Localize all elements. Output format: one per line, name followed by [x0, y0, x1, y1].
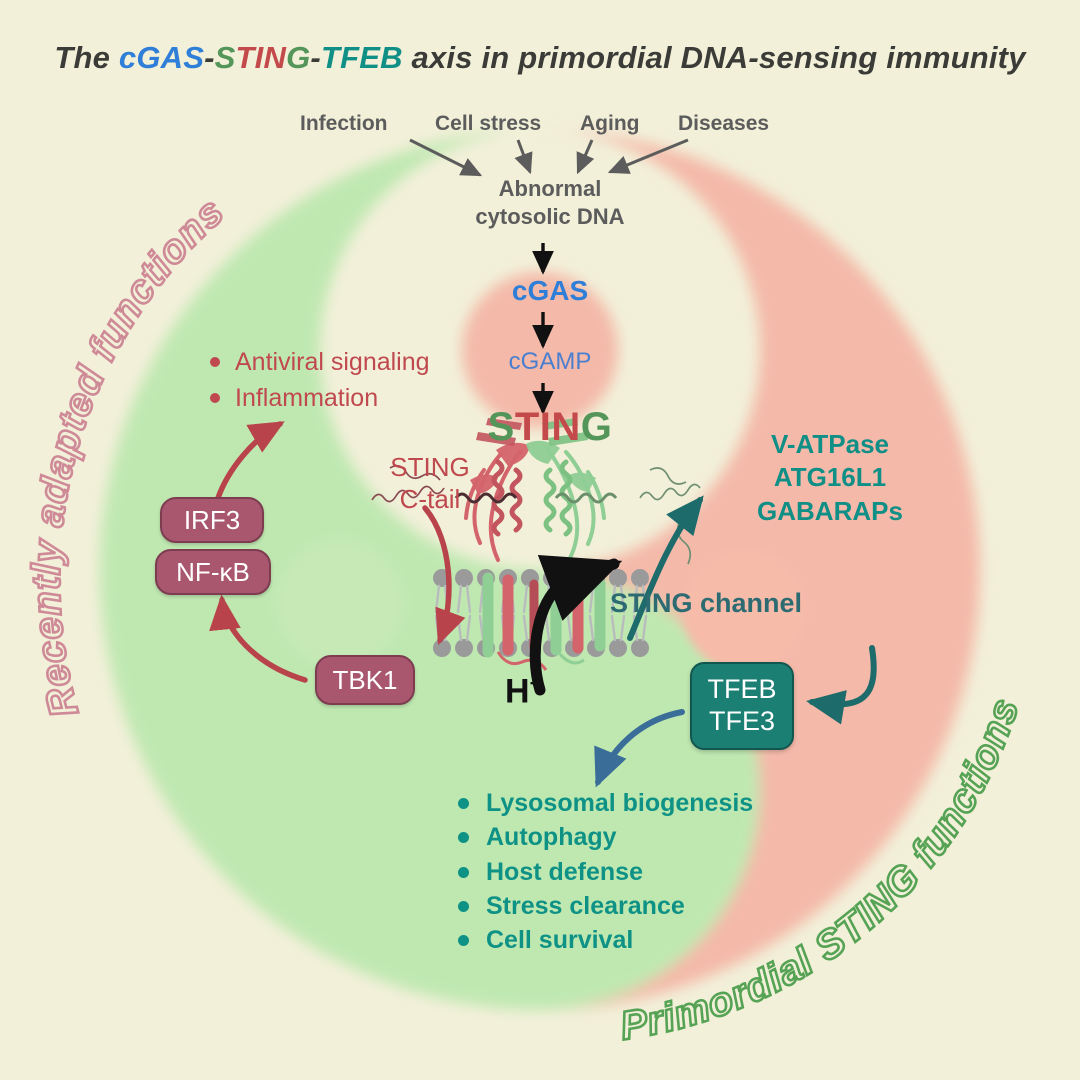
sting-heading-g: G [581, 405, 613, 449]
green-outcomes-list: Lysosomal biogenesis Autophagy Host defe… [450, 786, 870, 957]
page-title: The cGAS-STING-TFEB axis in primordial D… [0, 40, 1080, 76]
tfe3-label: TFE3 [709, 706, 775, 738]
effector-v-atpase: V-ATPase [680, 428, 980, 461]
irf3-node[interactable]: IRF3 [160, 497, 264, 543]
list-item: Stress clearance [450, 889, 870, 923]
title-part-2: - [204, 40, 215, 75]
abnormal-dna-label: Abnormal cytosolic DNA [400, 175, 700, 230]
title-part-0: The [54, 40, 119, 75]
title-part-5: G [286, 40, 310, 75]
title-part-6: - [310, 40, 321, 75]
abnormal-dna-line2: cytosolic DNA [400, 203, 700, 231]
stimulus-label-diseases: Diseases [678, 112, 769, 136]
tfeb-tfe3-node[interactable]: TFEB TFE3 [690, 662, 794, 750]
proton-charge: + [530, 672, 542, 695]
title-part-4: TIN [236, 40, 287, 75]
sting-channel-label: STING channel [610, 588, 802, 619]
stimulus-label-cell-stress: Cell stress [435, 112, 541, 136]
stimulus-label-infection: Infection [300, 112, 388, 136]
list-item: Cell survival [450, 923, 870, 957]
list-item: Autophagy [450, 820, 870, 854]
title-part-1: cGAS [119, 40, 204, 75]
ctail-line1: STING [340, 452, 520, 484]
stimulus-label-aging: Aging [580, 112, 639, 136]
title-part-7: TFEB [321, 40, 403, 75]
proton-symbol: H [505, 672, 530, 710]
tfeb-label: TFEB [707, 674, 776, 706]
abnormal-dna-line1: Abnormal [400, 175, 700, 203]
ctail-line2: C-tail [340, 484, 520, 516]
title-part-8: axis in primordial DNA-sensing immunity [403, 40, 1026, 75]
list-item: Lysosomal biogenesis [450, 786, 870, 820]
effector-atg16l1: ATG16L1 [680, 461, 980, 494]
tbk1-node[interactable]: TBK1 [315, 655, 415, 705]
title-part-3: S [215, 40, 236, 75]
red-outcomes-list: Antiviral signaling Inflammation [205, 345, 525, 416]
figure-canvas: Recently adapted functions Primordial ST… [0, 0, 1080, 1080]
green-effectors-list: V-ATPase ATG16L1 GABARAPs [680, 428, 980, 528]
eye-green-small [276, 539, 404, 667]
effector-gabaraps: GABARAPs [680, 495, 980, 528]
list-item: Inflammation [205, 381, 525, 417]
proton-label: H+ [505, 672, 542, 711]
list-item: Antiviral signaling [205, 345, 525, 381]
list-item: Host defense [450, 855, 870, 889]
cgas-label: cGAS [400, 275, 700, 307]
nfkb-node[interactable]: NF-κB [155, 549, 271, 595]
sting-ctail-label: STING C-tail [340, 452, 520, 515]
